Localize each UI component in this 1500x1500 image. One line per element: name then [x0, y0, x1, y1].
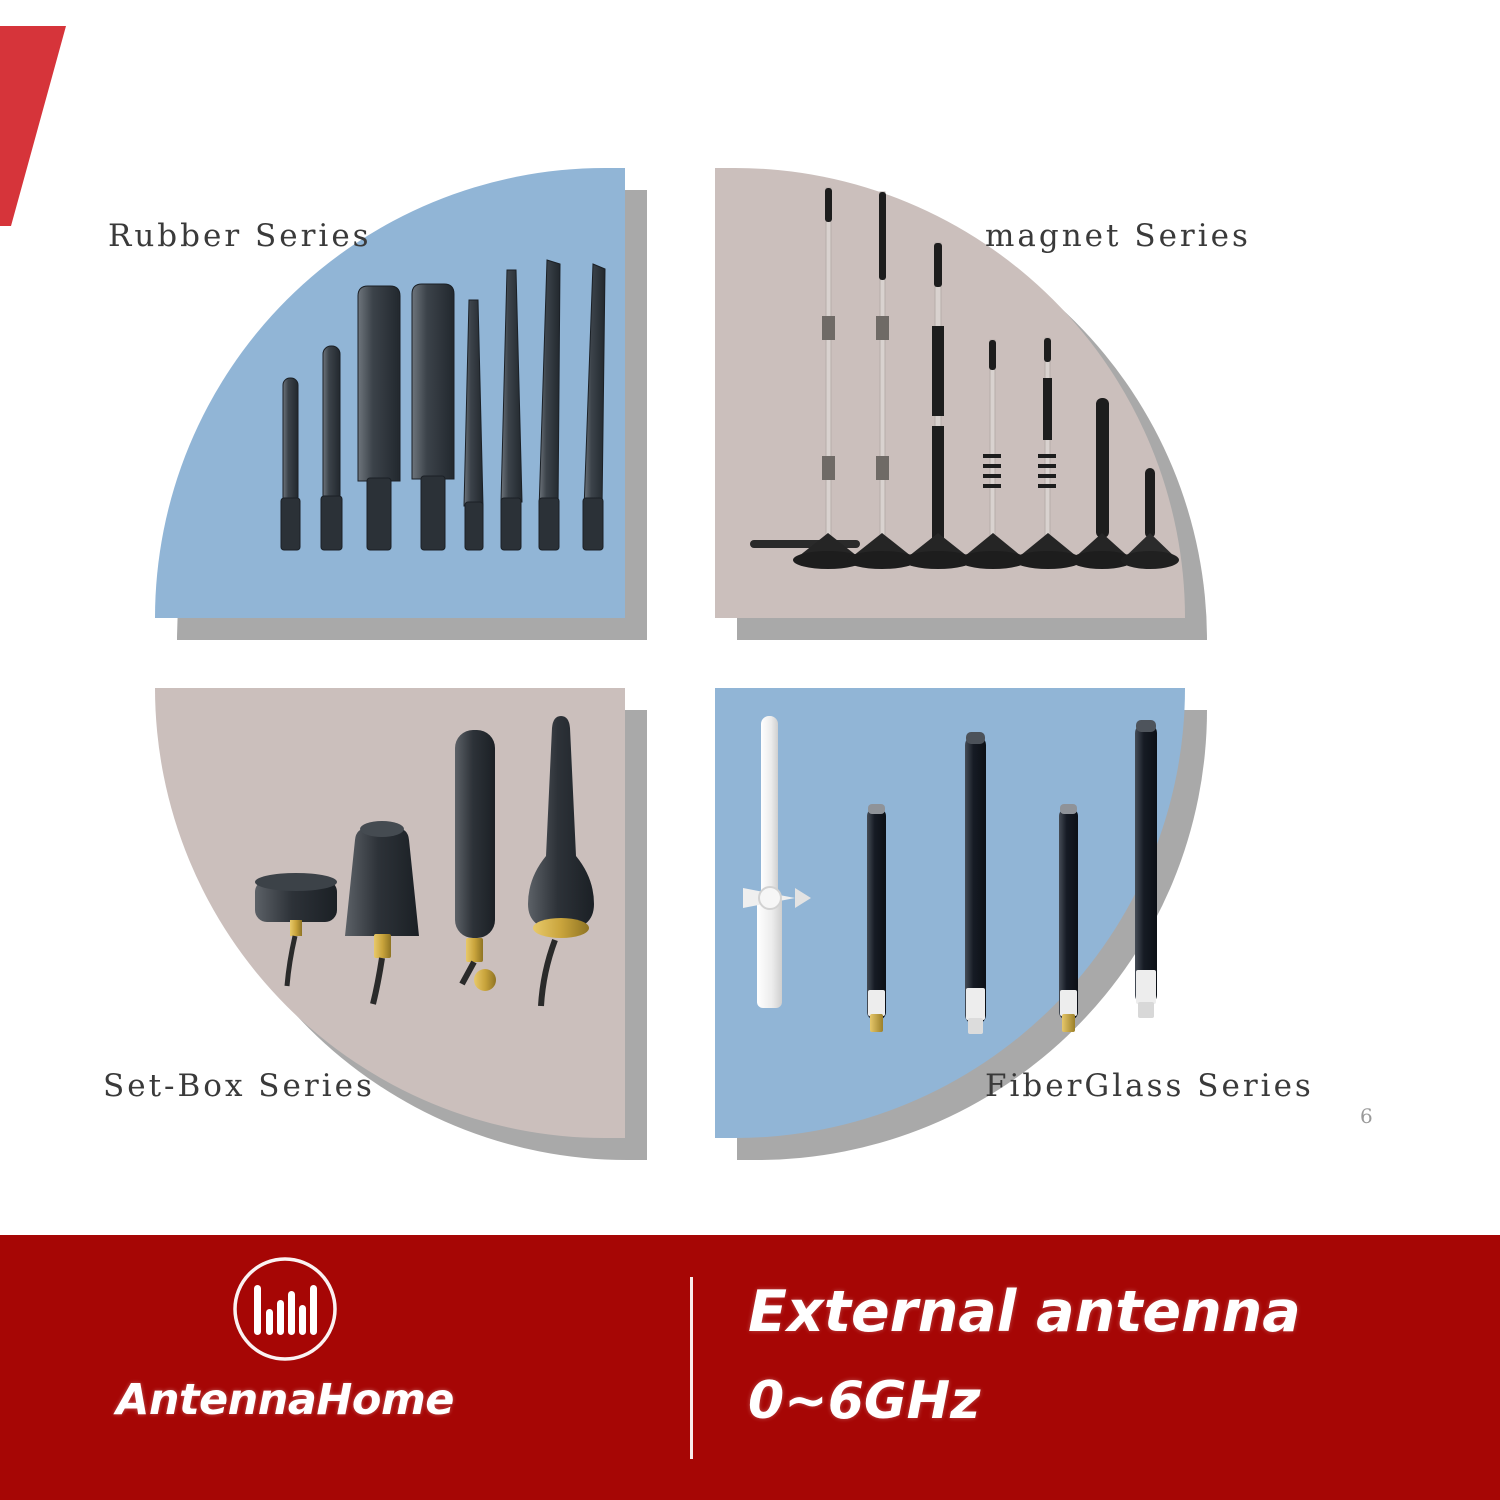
signal-bars-circle-icon	[229, 1253, 341, 1365]
footer-banner: AntennaHome External antenna 0~6GHz	[0, 1235, 1500, 1500]
page-number: 6	[1360, 1104, 1373, 1128]
banner-subhead: 0~6GHz	[748, 1371, 1301, 1431]
banner-headline: External antenna	[748, 1283, 1301, 1343]
quadrant-label-setbox: Set-Box Series	[103, 1068, 375, 1104]
banner-text-block: External antenna 0~6GHz	[748, 1283, 1301, 1431]
quadrant-label-fiberglass: FiberGlass Series	[985, 1068, 1314, 1104]
brand-block: AntennaHome	[95, 1253, 475, 1425]
quadrant-label-rubber: Rubber Series	[108, 218, 372, 254]
slide-canvas: Rubber Series magnet Series Set-Box Seri…	[0, 0, 1500, 1500]
quadrant-label-magnet: magnet Series	[985, 218, 1251, 254]
slide-body: Rubber Series magnet Series Set-Box Seri…	[0, 0, 1500, 1210]
banner-divider	[690, 1277, 693, 1459]
corner-accent-wedge	[0, 0, 120, 240]
brand-name: AntennaHome	[116, 1375, 454, 1425]
